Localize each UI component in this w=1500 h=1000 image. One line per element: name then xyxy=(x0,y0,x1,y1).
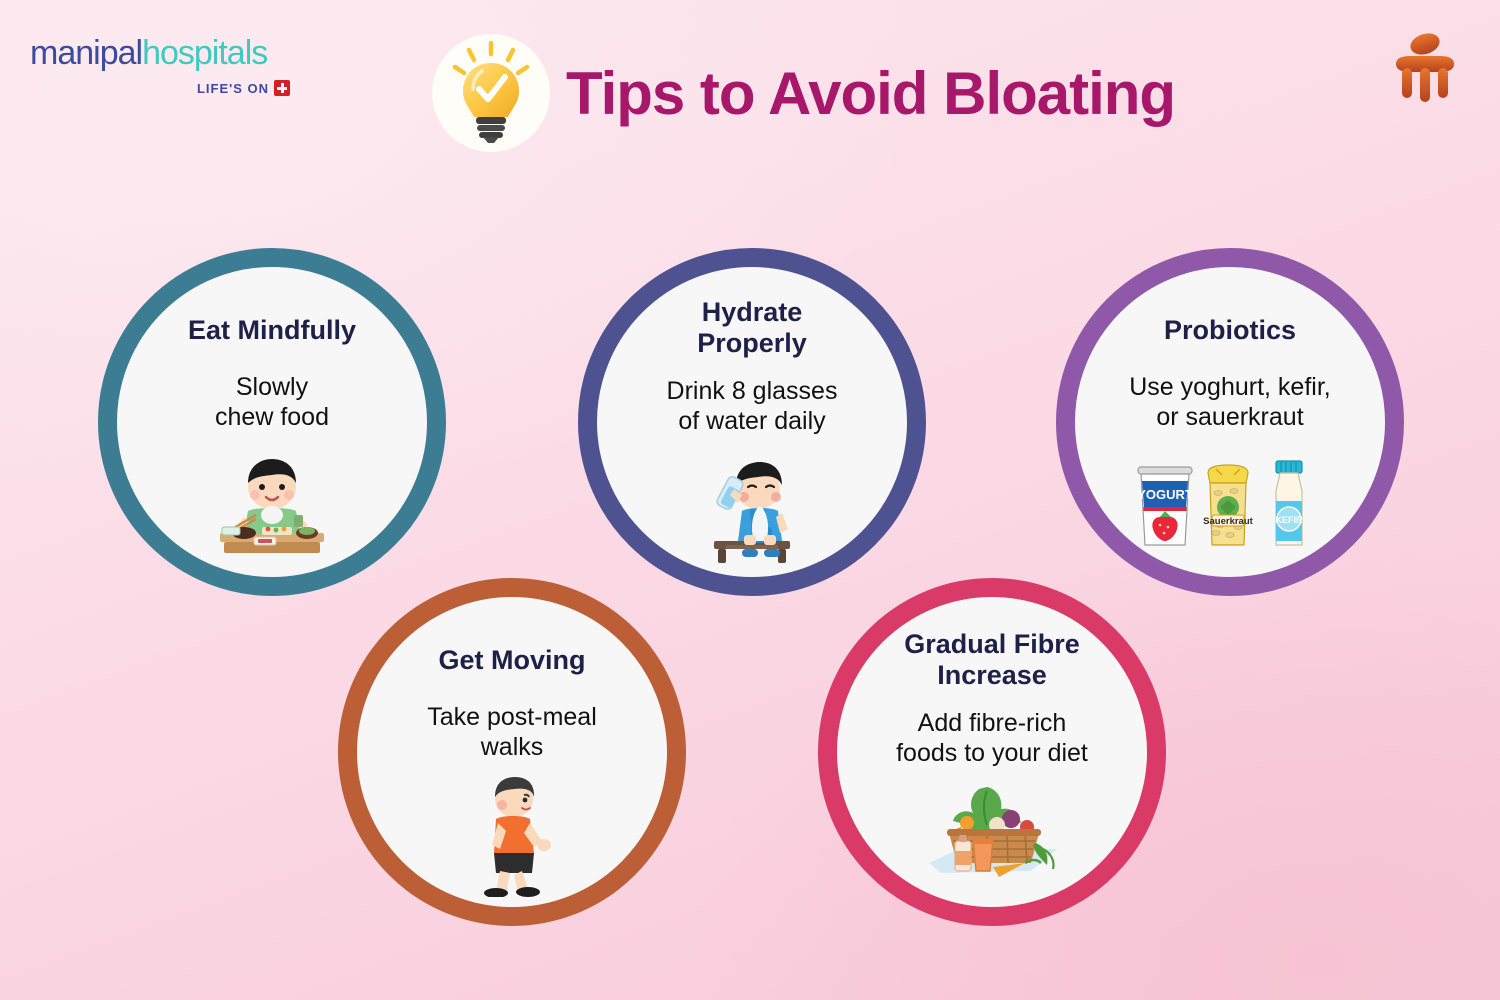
logo-wordmark: manipalhospitals xyxy=(30,36,290,70)
person-walking-icon xyxy=(462,775,562,897)
tip-body-line: Drink 8 glasses xyxy=(616,376,888,406)
tip-body-line: Use yoghurt, kefir, xyxy=(1094,372,1366,402)
tip-heading: Probiotics xyxy=(1105,315,1355,346)
logo-tagline-text: LIFE'S ON xyxy=(197,81,269,96)
tip-body: Drink 8 glasses of water daily xyxy=(616,376,888,436)
tip-body-line: foods to your diet xyxy=(856,738,1128,768)
kefir-bottle: KEFIR xyxy=(1276,461,1304,545)
person-eating-meal-icon xyxy=(210,453,334,557)
tip-body-line: Take post-meal xyxy=(376,702,648,732)
person-drinking-water-icon xyxy=(692,455,812,565)
orange-brandmark-icon xyxy=(1388,28,1462,108)
tip-body-line: or sauerkraut xyxy=(1094,402,1366,432)
tip-heading: Eat Mindfully xyxy=(147,315,397,346)
logo-word-hospitals: hospitals xyxy=(142,34,267,72)
probiotic-foods-icon: YOGURT Sauerkraut xyxy=(1130,457,1330,549)
tip-card-gradual-fibre-increase[interactable]: Gradual Fibre Increase Add fibre-rich fo… xyxy=(818,578,1166,926)
brand-logo: manipalhospitals LIFE'S ON xyxy=(30,36,290,96)
svg-text:Sauerkraut: Sauerkraut xyxy=(1203,516,1253,527)
tip-heading-line: Increase xyxy=(867,660,1117,691)
tip-body: Slowly chew food xyxy=(136,372,408,432)
tip-heading-line: Hydrate xyxy=(627,297,877,328)
svg-text:YOGURT: YOGURT xyxy=(1137,487,1193,502)
tip-card-get-moving[interactable]: Get Moving Take post-meal walks xyxy=(338,578,686,926)
yogurt-tub: YOGURT xyxy=(1137,467,1193,545)
tip-body-line: of water daily xyxy=(616,406,888,436)
tip-body-line: Add fibre-rich xyxy=(856,708,1128,738)
logo-word-manipal: manipal xyxy=(30,34,142,72)
medical-cross-icon xyxy=(274,80,290,96)
logo-tagline: LIFE'S ON xyxy=(30,80,290,96)
tip-card-hydrate-properly[interactable]: Hydrate Properly Drink 8 glasses of wate… xyxy=(578,248,926,596)
tip-card-probiotics[interactable]: Probiotics Use yoghurt, kefir, or sauerk… xyxy=(1056,248,1404,596)
tip-heading: Gradual Fibre Increase xyxy=(867,629,1117,692)
tip-body: Add fibre-rich foods to your diet xyxy=(856,708,1128,768)
lightbulb-check-icon xyxy=(432,34,550,152)
svg-text:KEFIR: KEFIR xyxy=(1276,515,1304,525)
tip-body-line: walks xyxy=(376,732,648,762)
tip-body: Use yoghurt, kefir, or sauerkraut xyxy=(1094,372,1366,432)
tip-body-line: chew food xyxy=(136,402,408,432)
tip-card-eat-mindfully[interactable]: Eat Mindfully Slowly chew food xyxy=(98,248,446,596)
tip-heading: Hydrate Properly xyxy=(627,297,877,360)
sauerkraut-jar: Sauerkraut xyxy=(1203,465,1253,545)
tip-heading-line: Gradual Fibre xyxy=(867,629,1117,660)
page-header: Tips to Avoid Bloating xyxy=(432,38,1175,148)
tip-heading-line: Properly xyxy=(627,328,877,359)
tip-body: Take post-meal walks xyxy=(376,702,648,762)
page-title: Tips to Avoid Bloating xyxy=(566,59,1175,128)
tip-body-line: Slowly xyxy=(136,372,408,402)
vegetable-basket-icon xyxy=(907,779,1077,883)
tip-heading: Get Moving xyxy=(387,645,637,676)
